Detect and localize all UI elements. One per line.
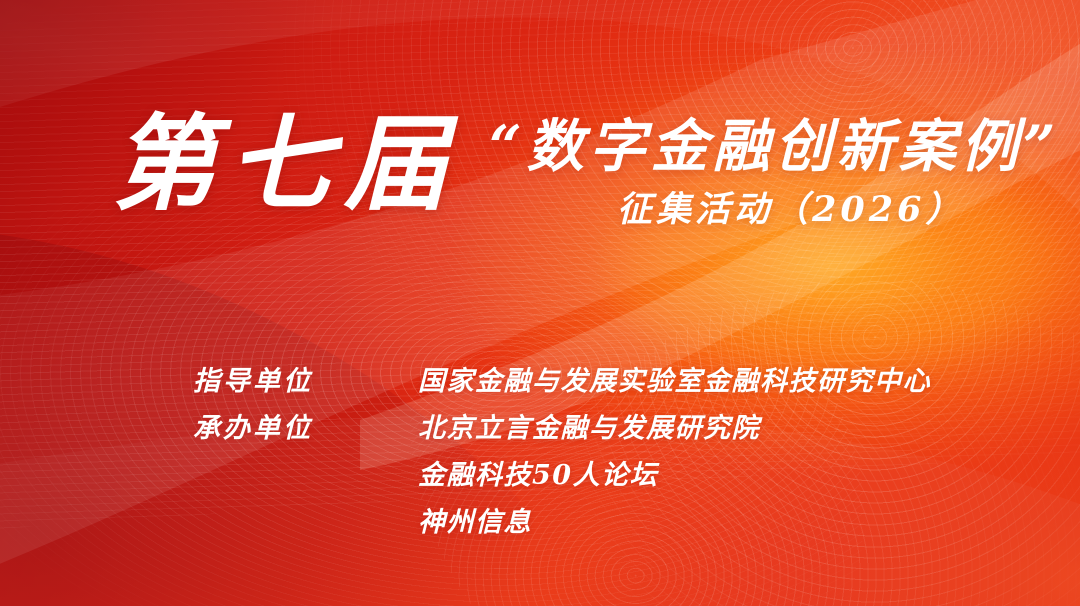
credit-values-guidance: 国家金融与发展实验室金融科技研究中心 [418, 358, 1023, 405]
credit-values-organizer: 北京立言金融与发展研究院 金融科技50人论坛 神州信息 [418, 405, 1023, 546]
credit-value-organizer-1: 金融科技50人论坛 [418, 452, 1023, 499]
credit-value-organizer-2: 神州信息 [418, 499, 1023, 546]
credits-block: 指导单位 国家金融与发展实验室金融科技研究中心 承办单位 北京立言金融与发展研究… [193, 358, 1023, 546]
credit-row-guidance: 指导单位 国家金融与发展实验室金融科技研究中心 [193, 358, 1023, 405]
credit-value-guidance-0: 国家金融与发展实验室金融科技研究中心 [418, 358, 1023, 405]
credit-row-organizer: 承办单位 北京立言金融与发展研究院 金融科技50人论坛 神州信息 [193, 405, 1023, 546]
poster-main-title: “数字金融创新案例” [489, 118, 1061, 175]
poster-subtitle: 征集活动（2026） [617, 192, 964, 227]
credit-value-organizer-0: 北京立言金融与发展研究院 [418, 405, 1023, 452]
poster-canvas: 第七届 “数字金融创新案例” 征集活动（2026） 指导单位 国家金融与发展实验… [0, 0, 1080, 606]
credit-label-organizer: 承办单位 [193, 405, 418, 452]
texture-lines-diagonal-right [605, 0, 1080, 388]
credit-label-guidance: 指导单位 [193, 358, 418, 405]
poster-edition-kicker: 第七届 [112, 112, 460, 216]
